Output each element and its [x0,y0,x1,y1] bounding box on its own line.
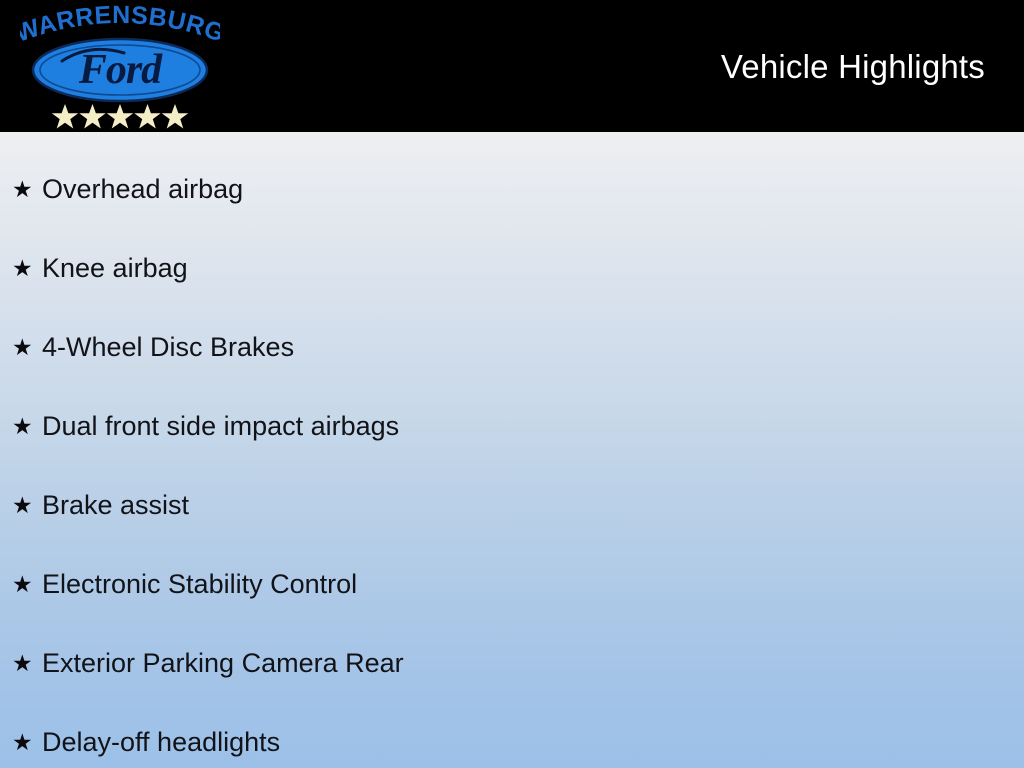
vehicle-highlights-page: WARRENSBURG Ford [0,0,1024,768]
list-item: ★ Dual front side impact airbags [0,387,1024,466]
page-header: WARRENSBURG Ford [0,0,1024,132]
star-icon: ★ [12,336,42,359]
star-icon: ★ [12,494,42,517]
rating-stars [52,104,188,129]
list-item: ★ Knee airbag [0,229,1024,308]
svg-text:Ford: Ford [78,47,163,93]
list-item-label: Exterior Parking Camera Rear [42,649,404,679]
star-icon [79,104,105,129]
list-item-label: Brake assist [42,491,189,521]
star-icon [52,104,78,129]
list-item-label: Delay-off headlights [42,728,280,758]
list-item: ★ Brake assist [0,466,1024,545]
star-icon: ★ [12,573,42,596]
list-item: ★ Electronic Stability Control [0,545,1024,624]
highlights-panel: ★ Overhead airbag ★ Knee airbag ★ 4-Whee… [0,132,1024,768]
list-item-label: 4-Wheel Disc Brakes [42,333,294,363]
list-item-label: Electronic Stability Control [42,570,357,600]
list-item: ★ Delay-off headlights [0,703,1024,768]
star-icon [162,104,188,129]
list-item: ★ Overhead airbag [0,150,1024,229]
star-icon [134,104,160,129]
list-item-label: Dual front side impact airbags [42,412,399,442]
star-icon: ★ [12,178,42,201]
list-item: ★ 4-Wheel Disc Brakes [0,308,1024,387]
star-icon: ★ [12,415,42,438]
star-icon: ★ [12,257,42,280]
dealer-logo: WARRENSBURG Ford [20,3,220,129]
list-item-label: Overhead airbag [42,175,243,205]
vehicle-highlights-list: ★ Overhead airbag ★ Knee airbag ★ 4-Whee… [0,132,1024,768]
star-icon: ★ [12,731,42,754]
star-icon: ★ [12,652,42,675]
list-item: ★ Exterior Parking Camera Rear [0,624,1024,703]
page-title: Vehicle Highlights [721,50,985,83]
star-icon [107,104,133,129]
list-item-label: Knee airbag [42,254,188,284]
